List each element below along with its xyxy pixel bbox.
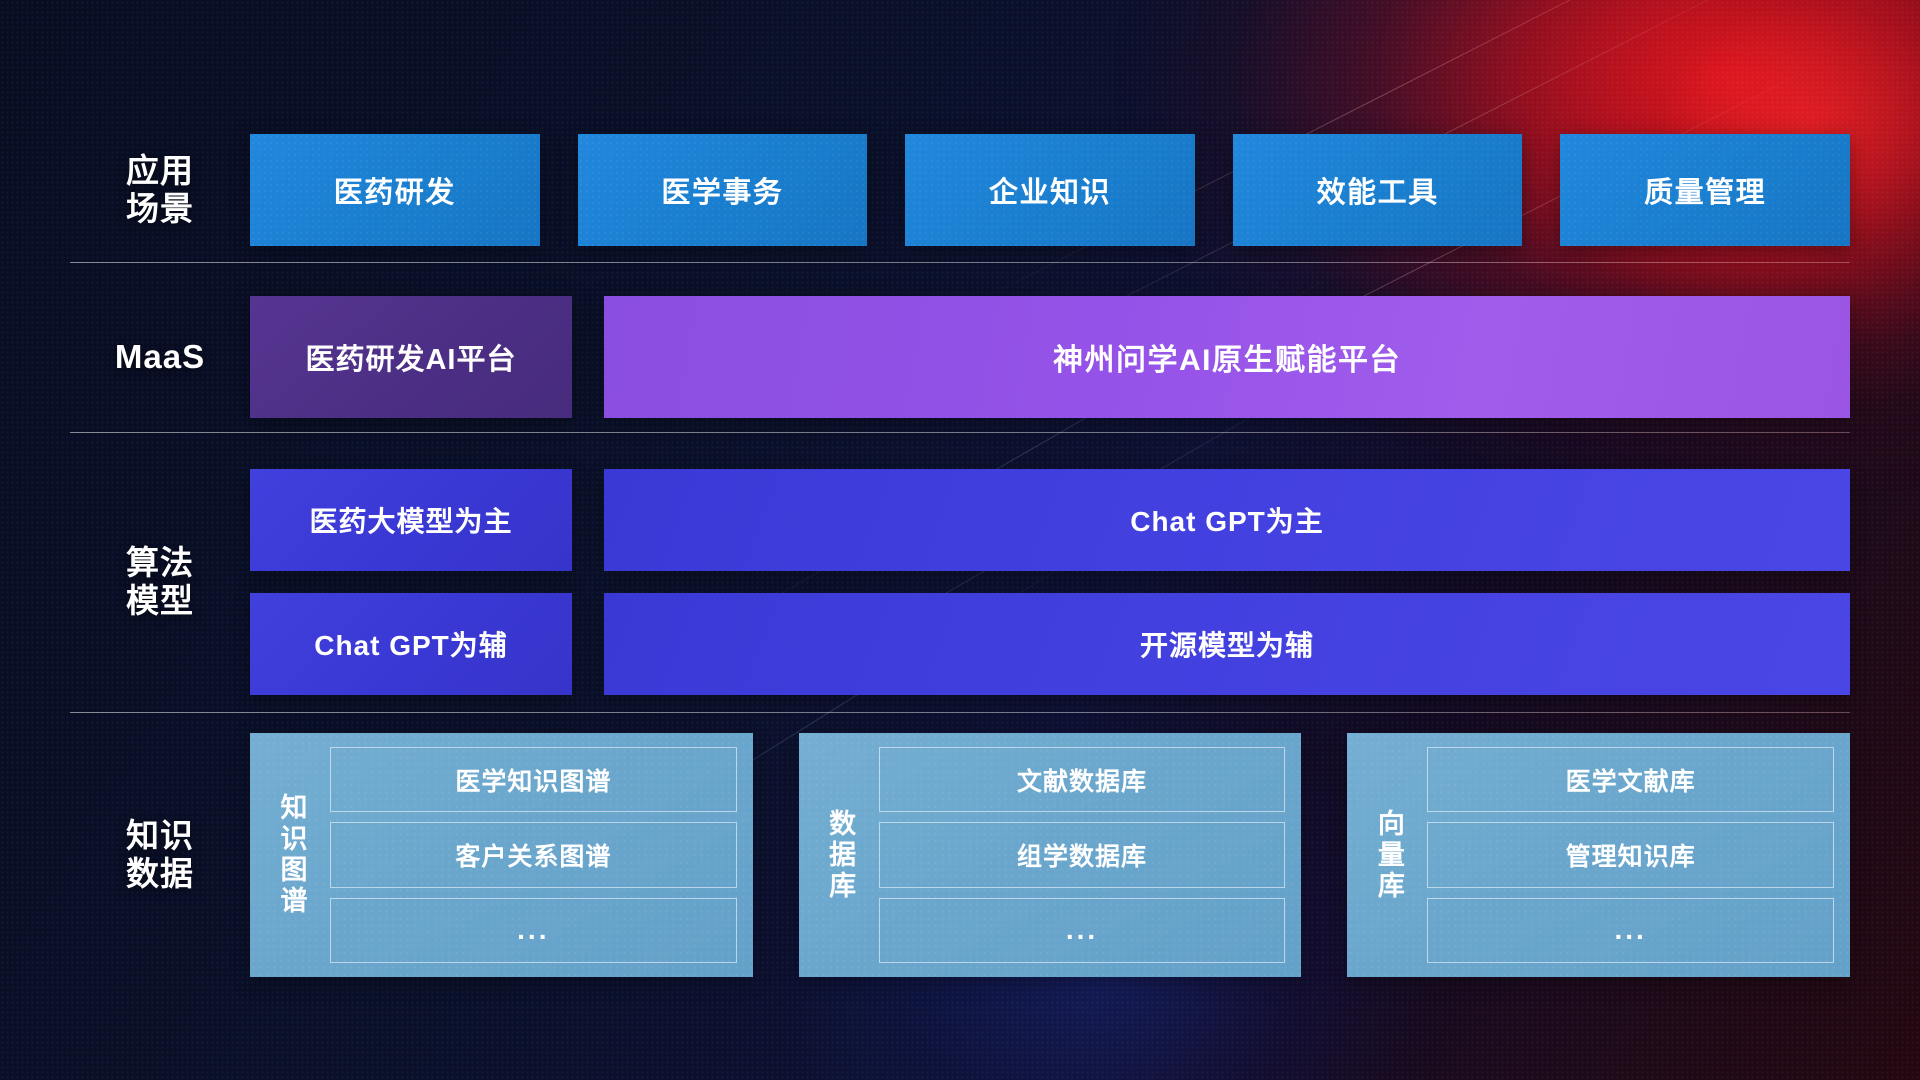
tier-label-knowledge-data: 知识 数据 [70, 817, 250, 894]
divider-applications-maas [70, 262, 1850, 263]
knowledge-group-title-knowledge-graph: 知识图谱 [260, 747, 322, 963]
divider-algorithm-knowledge [70, 712, 1850, 713]
knowledge-group-database[interactable]: 数据库 文献数据库 组学数据库 ... [799, 733, 1302, 977]
tier-label-line1: 算法 [70, 544, 250, 582]
tier-knowledge-data: 知识 数据 知识图谱 医学知识图谱 客户关系图谱 ... 数据库 [70, 730, 1850, 980]
slide-canvas: 神州数码 应用 场景 医药研发 医学事务 企业知识 效能工具 质量管理 MaaS [0, 0, 1920, 1080]
tier-label-line2: 数据 [70, 855, 250, 893]
tier-body-applications: 医药研发 医学事务 企业知识 效能工具 质量管理 [250, 134, 1850, 246]
tier-maas: MaaS 医药研发AI平台 神州问学AI原生赋能平台 [70, 293, 1850, 421]
app-box-quality-management[interactable]: 质量管理 [1560, 134, 1850, 246]
knowledge-item-medical-literature-store[interactable]: 医学文献库 [1427, 747, 1834, 812]
knowledge-group-title-database: 数据库 [809, 747, 871, 963]
divider-maas-algorithm [70, 432, 1850, 433]
knowledge-item-customer-relation-graph[interactable]: 客户关系图谱 [330, 822, 737, 887]
app-box-enterprise-knowledge[interactable]: 企业知识 [905, 134, 1195, 246]
knowledge-item-list: 医学知识图谱 客户关系图谱 ... [322, 747, 737, 963]
tier-label-line2: 模型 [70, 582, 250, 620]
tier-body-maas: 医药研发AI平台 神州问学AI原生赋能平台 [250, 296, 1850, 418]
knowledge-item-more[interactable]: ... [879, 898, 1286, 963]
knowledge-item-more[interactable]: ... [1427, 898, 1834, 963]
knowledge-item-list: 医学文献库 管理知识库 ... [1419, 747, 1834, 963]
algo-box-opensource-secondary[interactable]: 开源模型为辅 [604, 593, 1850, 695]
knowledge-item-management-knowledge-store[interactable]: 管理知识库 [1427, 822, 1834, 887]
algorithm-row-secondary: Chat GPT为辅 开源模型为辅 [250, 593, 1850, 695]
tier-applications: 应用 场景 医药研发 医学事务 企业知识 效能工具 质量管理 [70, 128, 1850, 252]
app-box-medicine-rnd[interactable]: 医药研发 [250, 134, 540, 246]
maas-box-pharma-ai-platform[interactable]: 医药研发AI平台 [250, 296, 572, 418]
knowledge-group-vector-store[interactable]: 向量库 医学文献库 管理知识库 ... [1347, 733, 1850, 977]
tier-body-knowledge-data: 知识图谱 医学知识图谱 客户关系图谱 ... 数据库 文献数据库 组学数据库 .… [250, 733, 1850, 977]
knowledge-group-title-vector-store: 向量库 [1357, 747, 1419, 963]
knowledge-item-literature-database[interactable]: 文献数据库 [879, 747, 1286, 812]
knowledge-item-medical-knowledge-graph[interactable]: 医学知识图谱 [330, 747, 737, 812]
tier-label-algorithm-models: 算法 模型 [70, 544, 250, 621]
tier-label-line2: 场景 [70, 190, 250, 228]
algo-box-pharma-llm-primary[interactable]: 医药大模型为主 [250, 469, 572, 571]
tier-body-algorithm-models: 医药大模型为主 Chat GPT为主 Chat GPT为辅 开源模型为辅 [250, 469, 1850, 695]
architecture-diagram: 应用 场景 医药研发 医学事务 企业知识 效能工具 质量管理 MaaS 医药研发… [0, 0, 1920, 1080]
app-box-medical-affairs[interactable]: 医学事务 [578, 134, 868, 246]
tier-label-maas: MaaS [70, 338, 250, 376]
knowledge-group-knowledge-graph[interactable]: 知识图谱 医学知识图谱 客户关系图谱 ... [250, 733, 753, 977]
maas-box-shenzhou-wenxue-platform[interactable]: 神州问学AI原生赋能平台 [604, 296, 1850, 418]
algo-box-chatgpt-secondary[interactable]: Chat GPT为辅 [250, 593, 572, 695]
knowledge-item-list: 文献数据库 组学数据库 ... [871, 747, 1286, 963]
tier-label-line1: 应用 [70, 152, 250, 190]
knowledge-item-more[interactable]: ... [330, 898, 737, 963]
algorithm-row-primary: 医药大模型为主 Chat GPT为主 [250, 469, 1850, 571]
algo-box-chatgpt-primary[interactable]: Chat GPT为主 [604, 469, 1850, 571]
app-box-efficiency-tools[interactable]: 效能工具 [1233, 134, 1523, 246]
tier-label-applications: 应用 场景 [70, 152, 250, 229]
knowledge-item-omics-database[interactable]: 组学数据库 [879, 822, 1286, 887]
tier-label-line1: 知识 [70, 817, 250, 855]
tier-algorithm-models: 算法 模型 医药大模型为主 Chat GPT为主 Chat GPT为辅 开源模型… [70, 462, 1850, 702]
